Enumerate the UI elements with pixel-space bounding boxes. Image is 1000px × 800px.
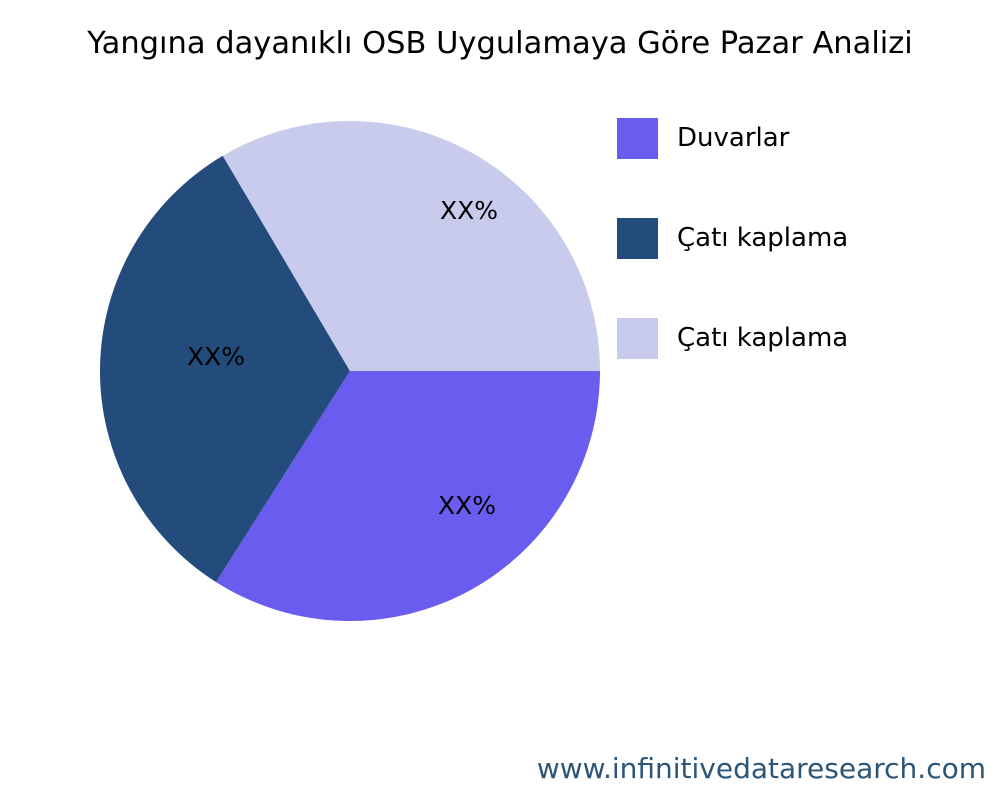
pie-slice-label: XX% — [438, 491, 496, 520]
legend-swatch-icon — [617, 218, 658, 259]
chart-canvas: Yangına dayanıklı OSB Uygulamaya Göre Pa… — [0, 0, 1000, 800]
pie-slice-label: XX% — [440, 196, 498, 225]
legend-item-label: Çatı kaplama — [677, 325, 848, 351]
legend-item[interactable]: Çatı kaplama — [617, 317, 848, 359]
pie-slice-label: XX% — [187, 342, 245, 371]
legend-item[interactable]: Duvarlar — [617, 117, 789, 159]
legend-item[interactable]: Çatı kaplama — [617, 217, 848, 259]
legend-swatch-icon — [617, 118, 658, 159]
legend-swatch-icon — [617, 318, 658, 359]
pie-chart: XX%XX%XX% — [0, 0, 1000, 800]
legend-item-label: Duvarlar — [677, 125, 789, 151]
footer-url: www.infinitivedataresearch.com — [0, 752, 1000, 785]
legend-item-label: Çatı kaplama — [677, 225, 848, 251]
pie-slice-group — [100, 121, 600, 621]
